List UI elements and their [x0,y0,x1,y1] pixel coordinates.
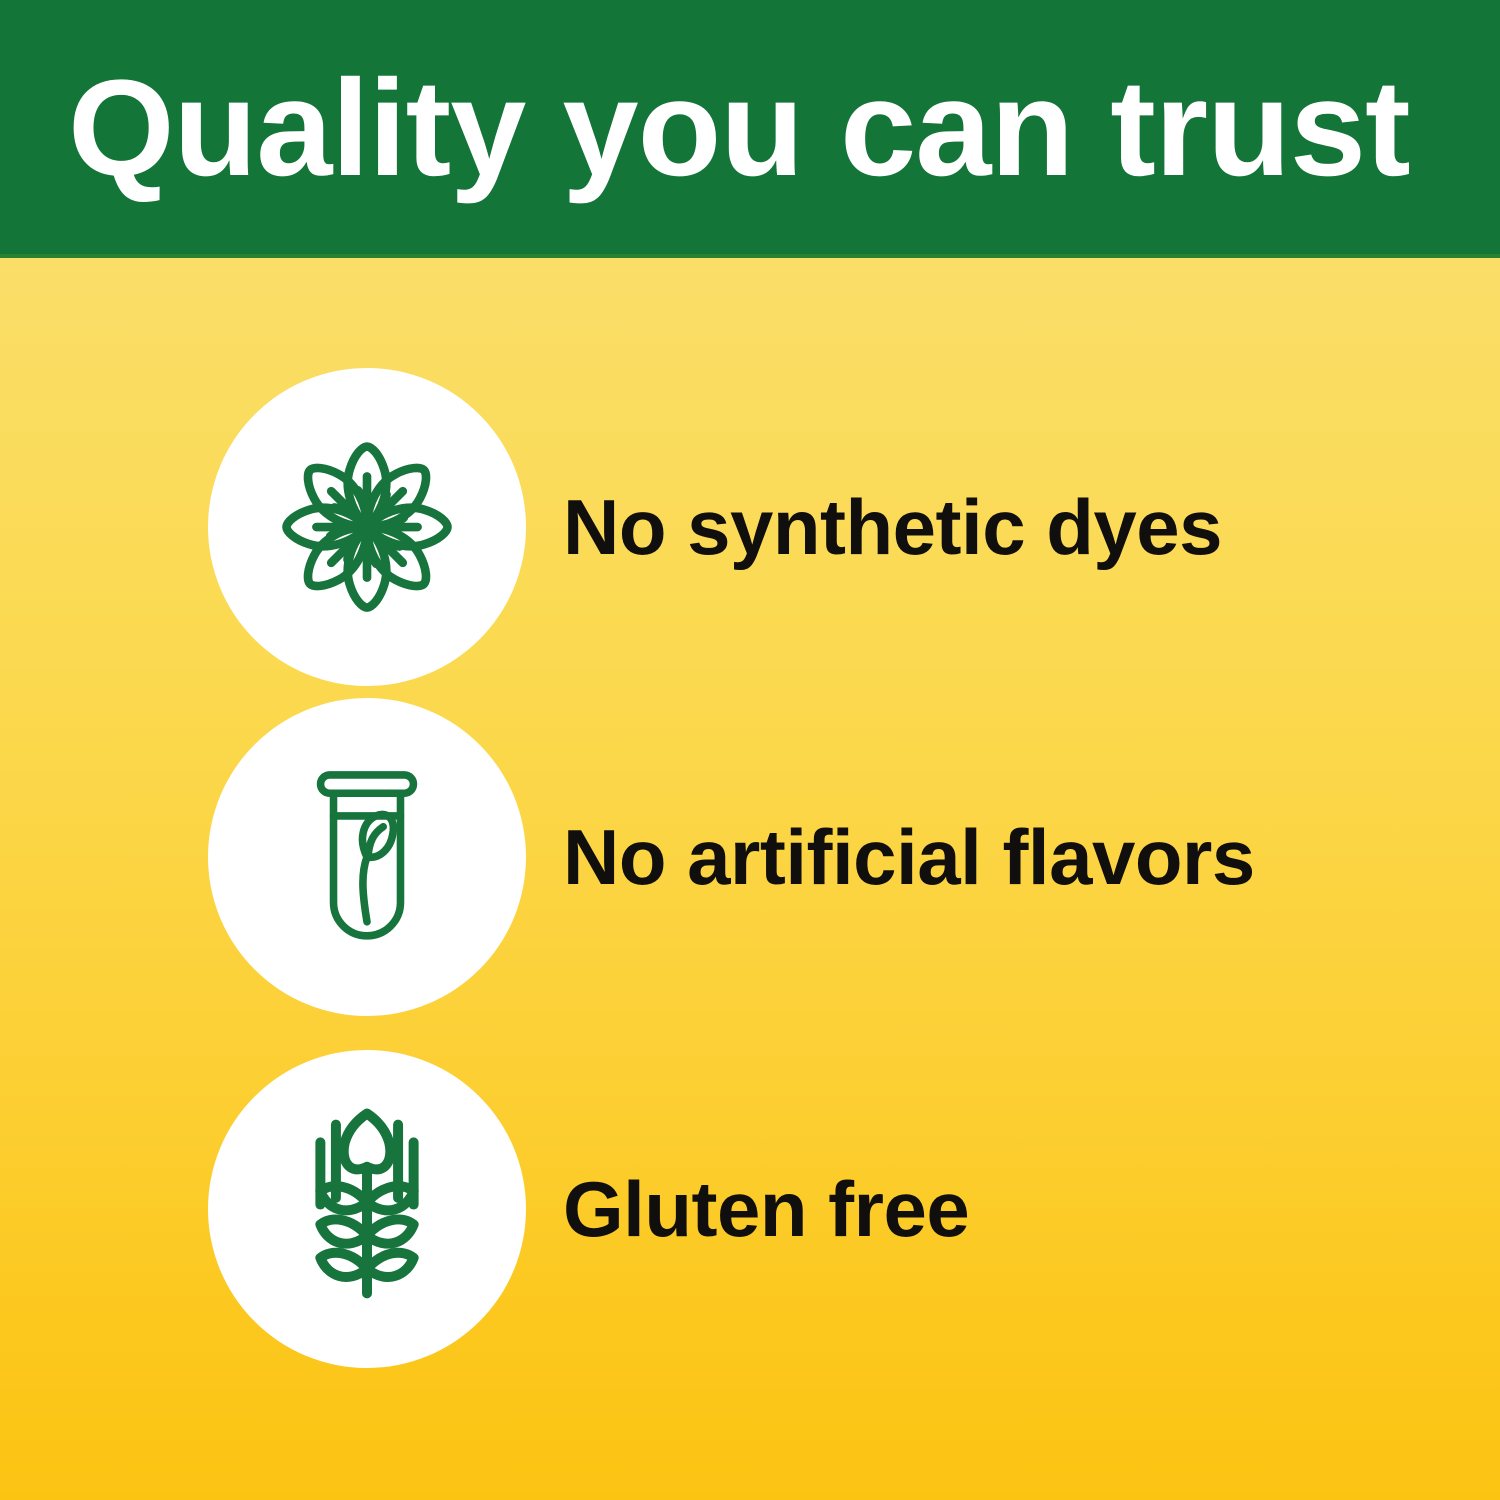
feature-list: No synthetic dyes [0,258,1500,1500]
feature-row: No synthetic dyes [0,362,1500,692]
feature-label: No synthetic dyes [563,482,1222,573]
feature-row: Gluten free [0,1044,1500,1374]
icon-badge [208,1050,526,1368]
quality-claims-banner: Quality you can trust [0,0,1500,1500]
page-title: Quality you can trust [68,60,1468,197]
test-tube-leaf-icon [259,749,475,965]
flower-petals-icon [252,412,482,642]
icon-badge [208,698,526,1016]
feature-label: No artificial flavors [563,812,1255,903]
icon-badge [208,368,526,686]
feature-row: No artificial flavors [0,692,1500,1022]
feature-label: Gluten free [563,1164,969,1255]
wheat-stalk-icon [256,1098,478,1320]
header-band: Quality you can trust [0,0,1500,258]
